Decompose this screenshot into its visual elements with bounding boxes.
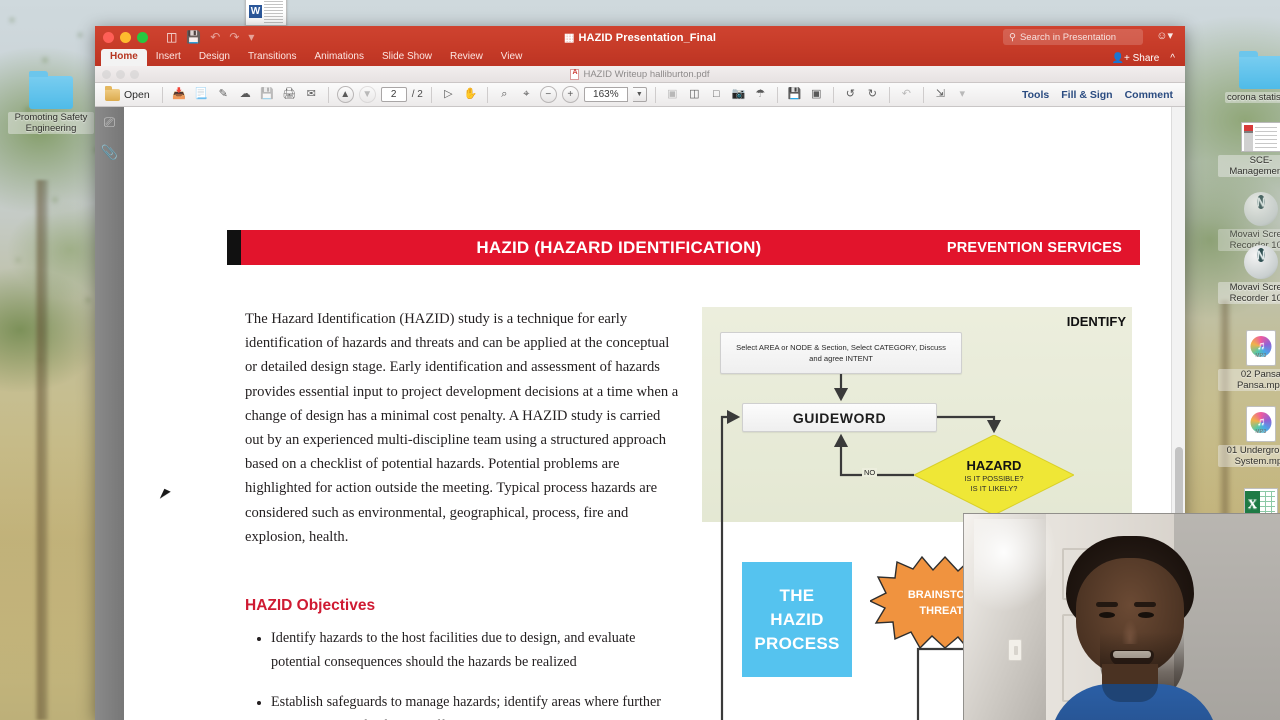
minimize-button[interactable] — [120, 32, 131, 43]
document-icon — [1241, 122, 1280, 152]
webcam-person — [1044, 536, 1214, 720]
webcam-overlay[interactable] — [963, 513, 1280, 720]
toolbar-separator — [162, 87, 163, 103]
rotate-cw-icon[interactable]: ↻ — [864, 86, 881, 103]
desktop-icon-label: 01 Underground System.mp3 — [1218, 445, 1280, 467]
hand-tool-icon[interactable]: ✋ — [462, 86, 479, 103]
objectives-heading: HAZID Objectives — [245, 597, 375, 615]
share-area[interactable]: 👤+ Share ^ — [1112, 53, 1175, 64]
rotate-ccw-icon[interactable]: ↺ — [842, 86, 859, 103]
redo-icon[interactable]: ↷ — [229, 31, 239, 43]
desktop-icon-movavi-screen-recorder-1[interactable]: N Movavi Screen Recorder 10.4. — [1218, 192, 1280, 251]
mp3-file-icon: MP3 — [1246, 330, 1276, 366]
process-line-1: THE — [780, 584, 815, 608]
header-black-accent — [227, 230, 241, 265]
save-icon[interactable]: 💾 — [259, 86, 276, 103]
share-button[interactable]: 👤+ Share — [1112, 53, 1160, 64]
document-lines-decoration — [264, 1, 283, 25]
list-item: Identify hazards to the host facilities … — [271, 626, 685, 674]
mp3-file-icon: MP3 — [1246, 406, 1276, 442]
quick-access-toolbar[interactable]: ◫ 💾 ↶ ↷ ▾ — [166, 31, 254, 43]
acrobat-titlebar[interactable]: HAZID Writeup halliburton.pdf — [95, 66, 1185, 83]
desktop-icon-movavi-screen-recorder-2[interactable]: N Movavi Screen Recorder 10.4. — [1218, 245, 1280, 304]
undo-icon[interactable]: ↶ — [898, 86, 915, 103]
marquee-zoom-icon[interactable]: ⌕ — [496, 86, 513, 103]
search-icon: ⚲ — [1009, 32, 1016, 43]
slide-header-banner: HAZID (HAZARD IDENTIFICATION) PREVENTION… — [227, 230, 1140, 265]
chevron-up-icon[interactable]: ^ — [1170, 53, 1175, 64]
toolbar-separator — [833, 87, 834, 103]
desktop-icon-promoting-safety-engineering[interactable]: Promoting Safety Engineering — [8, 76, 94, 134]
acrobat-toolbar[interactable]: Open 📥 📃 ✎ ☁ 💾 🖨 ✉ ▲ ▼ 2 / 2 ▷ ✋ ⌕ ⌖ − +… — [95, 83, 1185, 107]
webcam-light-switch — [1008, 639, 1022, 661]
zoom-out-icon[interactable]: − — [540, 86, 557, 103]
acrobat-document-tab[interactable]: HAZID Writeup halliburton.pdf — [95, 69, 1185, 80]
hazard-question-1: IS IT POSSIBLE? — [964, 474, 1023, 483]
save-file-icon[interactable]: 💾 — [786, 86, 803, 103]
desktop-icon-underground-system-mp3[interactable]: MP3 01 Underground System.mp3 — [1218, 406, 1280, 467]
undo-icon[interactable]: ↶ — [210, 31, 220, 43]
mp3-tag: MP3 — [1247, 351, 1275, 362]
hazard-decision-diamond: HAZARD IS IT POSSIBLE? IS IT LIKELY? — [914, 435, 1074, 515]
desktop-icon-label: corona statistics — [1225, 92, 1280, 103]
search-placeholder: Search in Presentation — [1020, 32, 1116, 43]
toolbar-separator — [487, 87, 488, 103]
person-eyebrow-right — [1134, 602, 1156, 607]
desktop-icon-pansa-pansa-mp3[interactable]: MP3 02 Pansa Pansa.mp3 — [1218, 330, 1280, 391]
desktop-icon-corona-statistics[interactable]: corona statistics — [1218, 56, 1280, 103]
toolbar-separator — [777, 87, 778, 103]
share-label: Share — [1133, 53, 1160, 64]
more-tools-icon[interactable]: ▾ — [954, 86, 971, 103]
powerpoint-ribbon-tabs[interactable]: Home Insert Design Transitions Animation… — [95, 48, 1185, 66]
page-thumbnails-icon[interactable]: ⎚ — [104, 115, 115, 129]
tab-animations[interactable]: Animations — [306, 49, 373, 66]
acrobat-navigation-rail[interactable]: ⎚ 📎 — [95, 107, 124, 720]
close-button[interactable] — [103, 32, 114, 43]
desktop-icon-sce-management[interactable]: SCE-Management.p — [1218, 122, 1280, 177]
list-item: Establish safeguards to manage hazards; … — [271, 690, 685, 720]
word-document-thumbnail[interactable]: W — [245, 0, 287, 26]
add-file-icon[interactable]: 📃 — [193, 86, 210, 103]
tab-review[interactable]: Review — [441, 49, 492, 66]
toolbar-separator — [923, 87, 924, 103]
movavi-badge-letter: N — [1257, 248, 1266, 262]
person-eye-right — [1138, 612, 1154, 618]
movavi-badge-letter: N — [1257, 195, 1266, 209]
desktop-icon-label: Promoting Safety Engineering — [8, 112, 94, 134]
person-eyebrow-left — [1096, 602, 1118, 607]
next-page-icon[interactable]: ▼ — [359, 86, 376, 103]
toolbar-separator — [431, 87, 432, 103]
presentation-search-input[interactable]: ⚲ Search in Presentation — [1003, 29, 1143, 45]
movavi-icon: N — [1244, 245, 1278, 279]
open-label: Open — [124, 89, 150, 101]
powerpoint-file-icon: ▦ — [564, 32, 575, 44]
tab-slide-show[interactable]: Slide Show — [373, 49, 441, 66]
slide-title: HAZID (HAZARD IDENTIFICATION) — [241, 238, 947, 258]
fill-and-sign-link[interactable]: Fill & Sign — [1055, 89, 1118, 101]
fit-width-icon[interactable]: □ — [708, 86, 725, 103]
tab-design[interactable]: Design — [190, 49, 239, 66]
print-icon[interactable]: 🖨 — [281, 86, 298, 103]
the-hazid-process-box: THE HAZID PROCESS — [742, 562, 852, 677]
movavi-icon: N — [1244, 192, 1278, 226]
tree-trunk-left — [34, 180, 50, 720]
folder-icon — [1239, 56, 1280, 89]
tab-transitions[interactable]: Transitions — [239, 49, 306, 66]
zoom-dropdown-icon[interactable]: ▼ — [633, 87, 647, 102]
page-total-label: / 2 — [412, 89, 423, 100]
toolbar-separator — [889, 87, 890, 103]
feedback-smiley-icon[interactable]: ☺▾ — [1156, 29, 1173, 42]
fit-visible-icon[interactable]: ▣ — [808, 86, 825, 103]
acrobat-tab-label: HAZID Writeup halliburton.pdf — [583, 69, 709, 80]
customize-toolbar-icon[interactable]: ▾ — [248, 31, 254, 43]
select-tool-icon[interactable]: ▷ — [440, 86, 457, 103]
person-eye-left — [1099, 612, 1115, 618]
desktop-icon-label: 02 Pansa Pansa.mp3 — [1218, 369, 1280, 391]
folder-icon — [29, 76, 73, 109]
toolbar-separator — [328, 87, 329, 103]
actual-size-icon[interactable]: ▣ — [664, 86, 681, 103]
powerpoint-titlebar[interactable]: ◫ 💾 ↶ ↷ ▾ ▦HAZID Presentation_Final ⚲ Se… — [95, 26, 1185, 48]
maximize-button[interactable] — [137, 32, 148, 43]
acrobat-right-links[interactable]: Tools Fill & Sign Comment — [1016, 89, 1179, 101]
fit-page-icon[interactable]: ◫ — [686, 86, 703, 103]
pdf-file-icon — [570, 69, 579, 80]
tab-insert[interactable]: Insert — [147, 49, 190, 66]
person-face — [1076, 558, 1184, 676]
window-controls[interactable] — [103, 32, 148, 43]
powerpoint-title-text: HAZID Presentation_Final — [579, 32, 716, 44]
zoom-in-icon[interactable]: + — [562, 86, 579, 103]
dynamic-zoom-icon[interactable]: ⌖ — [518, 86, 535, 103]
zoom-level-input[interactable]: 163% — [584, 87, 628, 102]
edit-pdf-icon[interactable]: ✎ — [215, 86, 232, 103]
attachments-icon[interactable]: 📎 — [101, 145, 118, 159]
hazard-title: HAZARD — [967, 458, 1022, 473]
open-file-button[interactable]: Open — [101, 89, 154, 101]
previous-page-icon[interactable]: ▲ — [337, 86, 354, 103]
objectives-list: Identify hazards to the host facilities … — [245, 626, 685, 720]
branch-label-no: NO — [862, 468, 877, 477]
tools-link[interactable]: Tools — [1016, 89, 1055, 101]
word-badge-icon: W — [249, 5, 262, 18]
page-number-input[interactable]: 2 — [381, 87, 407, 102]
read-aloud-icon[interactable]: ☂ — [752, 86, 769, 103]
hazard-question-2: IS IT LIKELY? — [971, 484, 1018, 493]
desktop-icon-label: SCE-Management.p — [1218, 155, 1280, 177]
process-line-2: HAZID — [770, 608, 823, 632]
open-folder-icon — [105, 89, 120, 101]
snapshot-icon[interactable]: 📷 — [730, 86, 747, 103]
comment-link[interactable]: Comment — [1119, 89, 1179, 101]
tab-view[interactable]: View — [492, 49, 532, 66]
mp3-tag: MP3 — [1247, 427, 1275, 438]
slide-subtitle: PREVENTION SERVICES — [947, 240, 1140, 256]
upload-cloud-icon[interactable]: ☁ — [237, 86, 254, 103]
fullscreen-icon[interactable]: ⇲ — [932, 86, 949, 103]
process-line-3: PROCESS — [754, 632, 839, 656]
new-slide-icon[interactable]: ◫ — [166, 31, 177, 43]
tab-home[interactable]: Home — [101, 49, 147, 66]
slide-body-paragraph: The Hazard Identification (HAZID) study … — [245, 307, 680, 549]
desktop-icon-label: Movavi Screen Recorder 10.4. — [1218, 282, 1280, 304]
email-icon[interactable]: ✉ — [303, 86, 320, 103]
save-icon[interactable]: 💾 — [186, 31, 201, 43]
save-to-cloud-icon[interactable]: 📥 — [171, 86, 188, 103]
toolbar-separator — [655, 87, 656, 103]
